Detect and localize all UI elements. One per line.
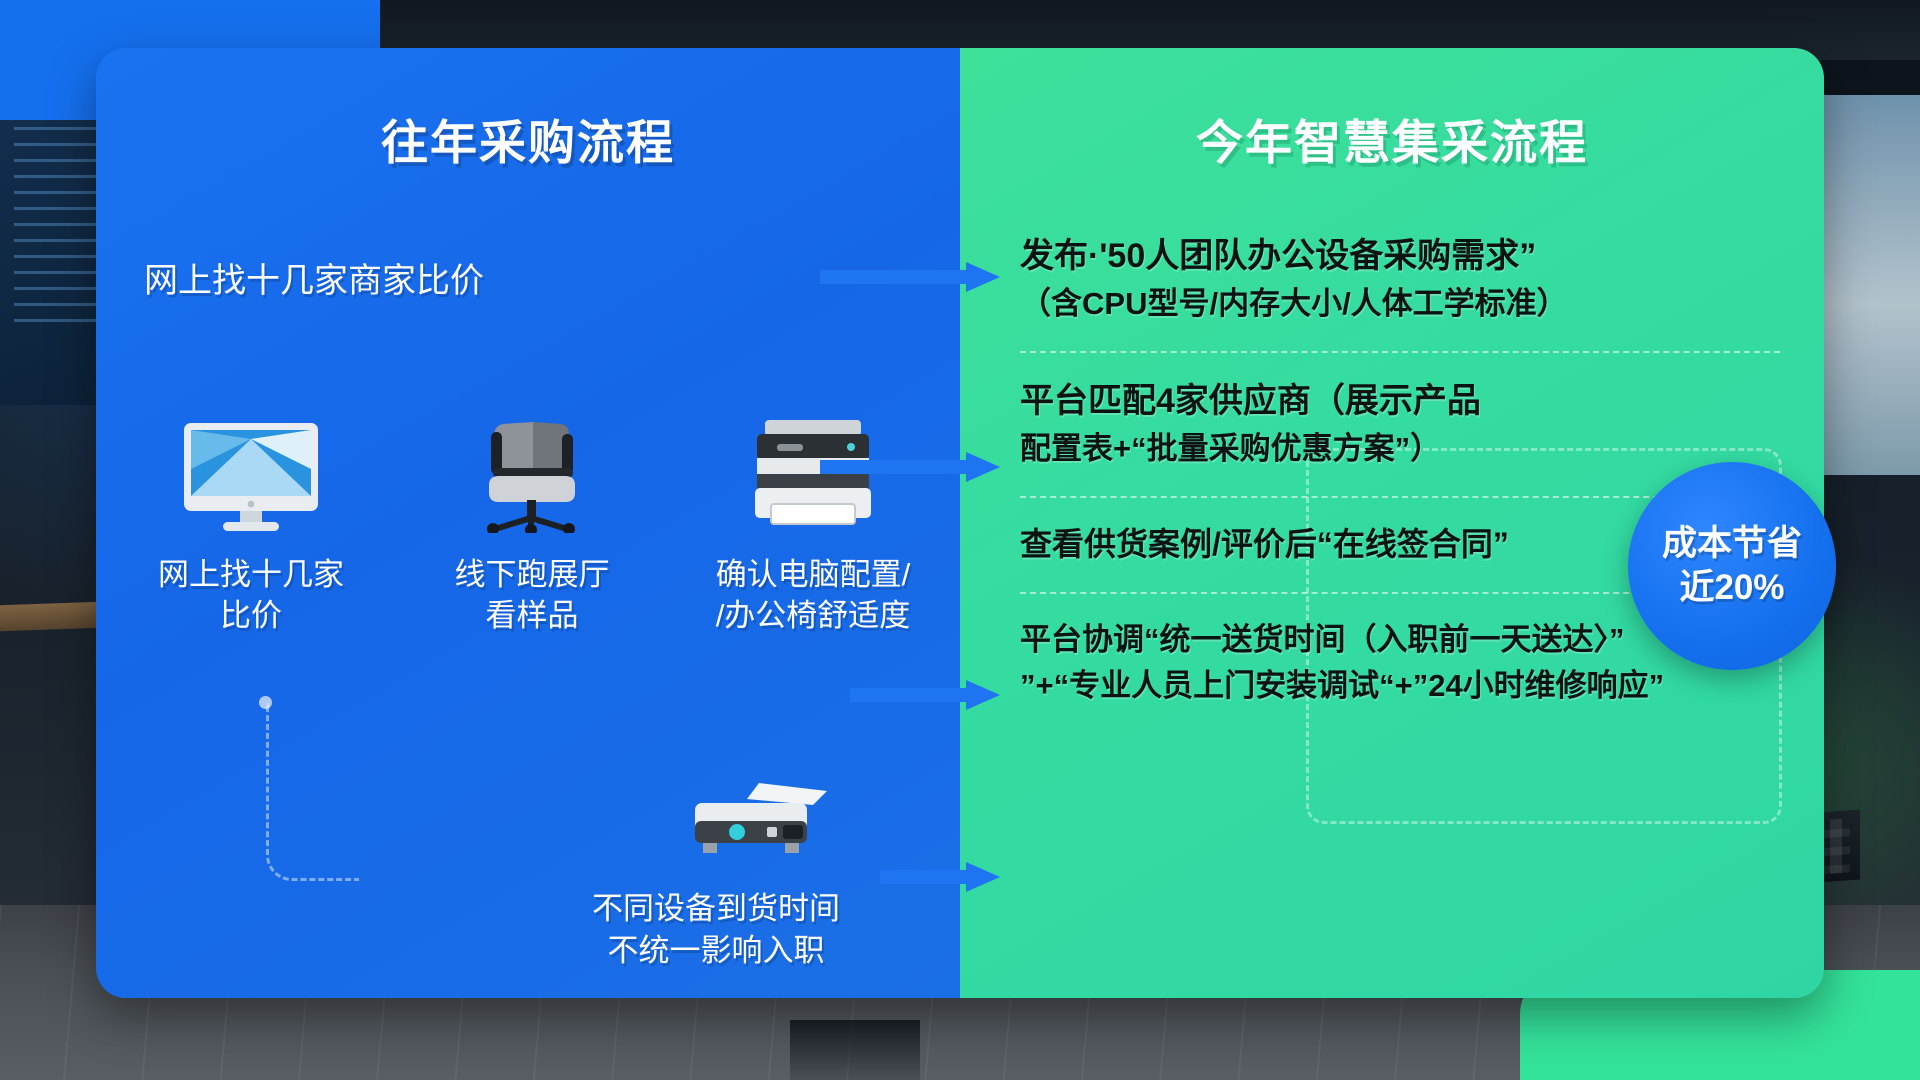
flow-arrow-4 bbox=[880, 862, 1000, 892]
caption-line-1: 不同设备到货时间 bbox=[536, 888, 896, 930]
desktop-monitor-icon bbox=[126, 418, 376, 533]
step-item-1: 发布·'50人团队办公设备采购需求” （含CPU型号/内存大小/人体工学标准） bbox=[1020, 208, 1780, 351]
flow-arrow-3 bbox=[850, 680, 1000, 710]
badge-line-2: 近20% bbox=[1679, 566, 1784, 610]
dashed-path-left bbox=[266, 703, 359, 881]
step-1-line-2: （含CPU型号/内存大小/人体工学标准） bbox=[1020, 284, 1780, 325]
right-steps-list: 发布·'50人团队办公设备采购需求” （含CPU型号/内存大小/人体工学标准） … bbox=[1020, 208, 1780, 733]
flow-arrow-2 bbox=[820, 452, 1000, 482]
step-4-line-2: ”+“专业人员上门安装调试“+”24小时维修响应” bbox=[1020, 666, 1780, 707]
left-icon-item-printer: 确认电脑配置/ /办公椅舒适度 bbox=[688, 418, 938, 637]
caption-line-1: 线下跑展厅 bbox=[407, 555, 657, 596]
cost-savings-badge: 成本节省 近20% bbox=[1628, 462, 1836, 670]
comparison-panels: 往年采购流程 网上找十几家商家比价 bbox=[96, 48, 1824, 998]
left-icon-row: 网上找十几家 比价 bbox=[126, 418, 938, 637]
badge-line-1: 成本节省 bbox=[1662, 522, 1802, 566]
projector-icon bbox=[681, 783, 831, 865]
caption-line-2: 看样品 bbox=[407, 596, 657, 637]
left-icon-item-monitor: 网上找十几家 比价 bbox=[126, 418, 376, 637]
step-1-line-1: 发布·'50人团队办公设备采购需求” bbox=[1020, 234, 1780, 278]
caption-line-2: 比价 bbox=[126, 596, 376, 637]
left-icon-caption-monitor: 网上找十几家 比价 bbox=[126, 555, 376, 637]
slide-canvas: 往年采购流程 网上找十几家商家比价 bbox=[0, 0, 1920, 1080]
caption-line-1: 网上找十几家 bbox=[126, 555, 376, 596]
step-item-2: 平台匹配4家供应商（展示产品 配置表+“批量采购优惠方案”） bbox=[1020, 351, 1780, 496]
caption-line-1: 确认电脑配置/ bbox=[688, 555, 938, 596]
office-chair-icon bbox=[407, 418, 657, 533]
step-2-line-1: 平台匹配4家供应商（展示产品 bbox=[1020, 379, 1780, 423]
left-bottom-caption: 不同设备到货时间 不统一影响入职 bbox=[536, 888, 896, 972]
left-icon-caption-printer: 确认电脑配置/ /办公椅舒适度 bbox=[688, 555, 938, 637]
left-icon-caption-chair: 线下跑展厅 看样品 bbox=[407, 555, 657, 637]
left-panel-title: 往年采购流程 bbox=[96, 104, 960, 173]
flow-arrow-1 bbox=[820, 262, 1000, 292]
step-2-line-2: 配置表+“批量采购优惠方案”） bbox=[1020, 429, 1780, 470]
background-chair-base bbox=[790, 1020, 920, 1080]
right-panel-title: 今年智慧集采流程 bbox=[960, 104, 1824, 173]
caption-line-2: 不统一影响入职 bbox=[536, 930, 896, 972]
left-panel-old-process: 往年采购流程 网上找十几家商家比价 bbox=[96, 48, 960, 998]
caption-line-2: /办公椅舒适度 bbox=[688, 596, 938, 637]
left-lead-text: 网上找十几家商家比价 bbox=[144, 253, 844, 302]
left-icon-item-chair: 线下跑展厅 看样品 bbox=[407, 418, 657, 637]
